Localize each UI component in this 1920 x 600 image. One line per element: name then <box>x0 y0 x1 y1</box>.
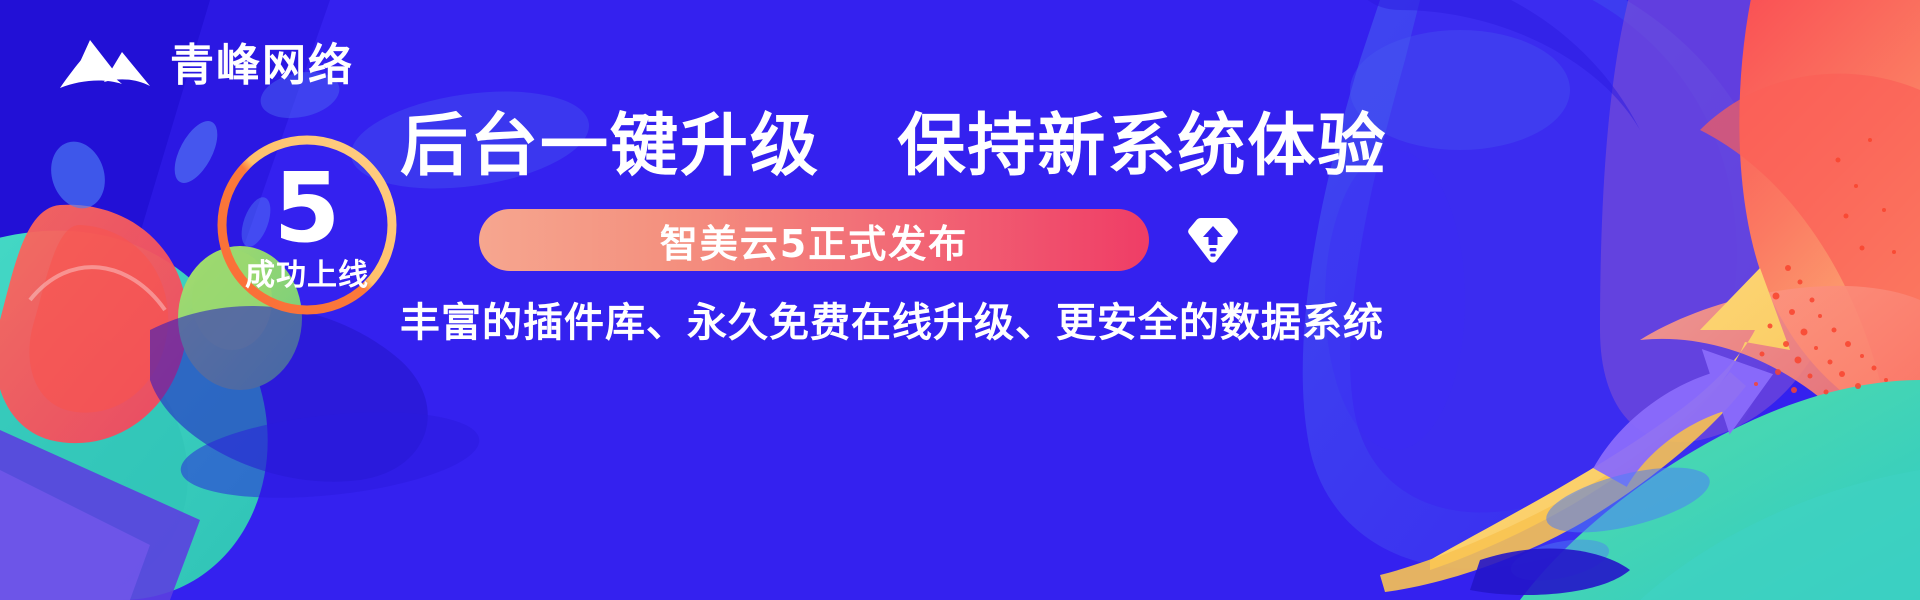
banner-content: 后台一键升级 保持新系统体验 智美云5正式发布 丰富的插件库、永久免费在线升级、… <box>400 110 1320 347</box>
headline-part1: 后台一键升级 <box>400 107 820 186</box>
mountain-peak-logo-icon <box>60 36 152 96</box>
diamond-upload-icon[interactable] <box>1185 212 1241 268</box>
headline: 后台一键升级 保持新系统体验 <box>400 110 1320 183</box>
release-pill-button[interactable]: 智美云5正式发布 <box>479 209 1149 271</box>
badge-caption: 成功上线 <box>214 258 400 294</box>
subtitle: 丰富的插件库、永久免费在线升级、更安全的数据系统 <box>400 299 1320 347</box>
brand-name: 青峰网络 <box>170 44 354 88</box>
version-badge: 5 成功上线 <box>214 132 400 318</box>
promo-banner: 青峰网络 5 成功上线 后台一键升级 保持新系统体验 智 <box>0 0 1920 600</box>
headline-part2: 保持新系统体验 <box>897 107 1387 186</box>
pill-row: 智美云5正式发布 <box>400 209 1320 271</box>
badge-number: 5 <box>214 160 400 256</box>
release-pill-label: 智美云5正式发布 <box>660 213 968 268</box>
brand-logo[interactable]: 青峰网络 <box>60 36 354 96</box>
